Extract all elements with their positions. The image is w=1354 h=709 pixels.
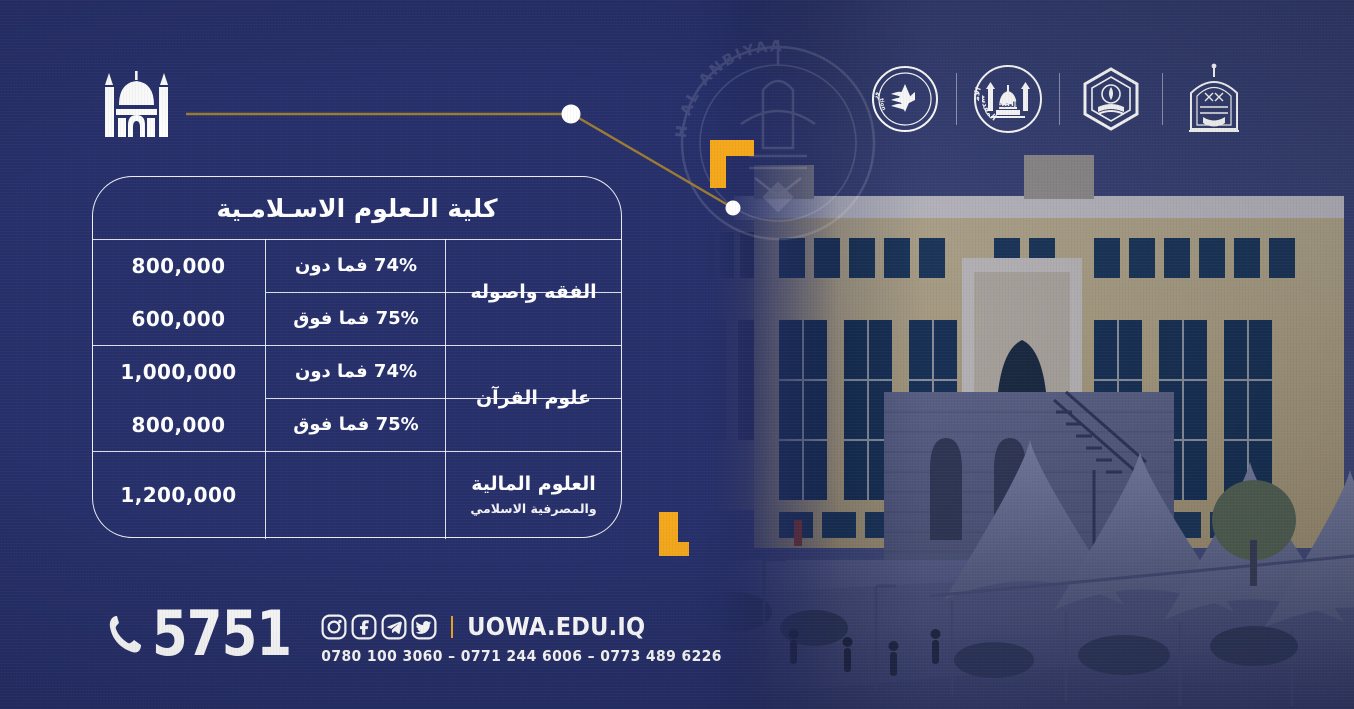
al-ataba-al-abbasiya-logo: الامانة العامة المقدسة العتبة [969, 58, 1047, 140]
svg-text:العتبة: العتبة [999, 101, 1018, 109]
rule-col-1 [445, 239, 446, 539]
instagram-icon[interactable] [321, 614, 347, 640]
phone-numbers: 0780 100 3060 – 0771 244 6006 – 0773 489… [321, 647, 722, 665]
ministry-of-higher-education-logo: وزارة التعليم العالي Ministry of Higher … [866, 58, 944, 140]
table-cell-amount: 800,000 [91, 398, 266, 451]
phone-icon [108, 614, 142, 654]
rule-row3 [266, 398, 621, 399]
accent-bracket-top [710, 140, 754, 188]
telegram-icon[interactable] [381, 614, 407, 640]
table-cell-amount: 1,200,000 [91, 451, 266, 539]
card-title: كلية الـعلوم الاسـلامـية [93, 177, 621, 239]
footer-divider [451, 616, 453, 638]
rule-col-2 [265, 239, 266, 539]
rule-row4 [93, 451, 621, 452]
twitter-icon[interactable] [411, 614, 437, 640]
logo-divider [956, 73, 957, 125]
table-cell-percent: 74% فما دون [266, 239, 446, 292]
partner-logos: الامانة العامة المقدسة العتبة [866, 58, 1253, 140]
table-cell-percent: 74% فما دون [266, 345, 446, 398]
svg-text:UNIVERSITY OF WARITH AL-ANBIYA: UNIVERSITY OF WARITH AL-ANBIYAA [663, 28, 784, 139]
hotline-block[interactable]: 5751 [108, 608, 303, 661]
contact-block: UOWA.EDU.IQ 0780 100 3060 – 0771 244 600… [321, 612, 722, 665]
rule-row2 [93, 345, 621, 346]
table-row-subject: العلوم المالية والمصرفية الاسلامي [446, 451, 621, 539]
rule-row1 [266, 292, 621, 293]
table-cell-amount: 600,000 [91, 292, 266, 345]
website-url[interactable]: UOWA.EDU.IQ [467, 612, 645, 641]
table-cell-amount: 1,000,000 [91, 345, 266, 398]
subject-sublabel: والمصرفية الاسلامي [470, 501, 596, 517]
photo-bottom-fade [694, 619, 1354, 709]
contact-top-row: UOWA.EDU.IQ [321, 612, 722, 641]
table-cell-percent: 75% فما فوق [266, 292, 446, 345]
footer-contact-bar: 5751 [108, 608, 722, 665]
logo-divider [1059, 73, 1060, 125]
rule-under-title [93, 239, 621, 240]
table-cell-percent [266, 451, 446, 539]
accent-bracket-bottom [645, 512, 689, 556]
fees-table-card: كلية الـعلوم الاسـلامـية الفقه واصوله 74… [92, 176, 622, 538]
warith-al-anbiyaa-university-logo [1175, 58, 1253, 140]
university-seal-watermark: UNIVERSITY OF WARITH AL-ANBIYAA [663, 28, 893, 258]
table-cell-amount: 800,000 [91, 239, 266, 292]
facebook-icon[interactable] [351, 614, 377, 640]
poster-root: UNIVERSITY OF WARITH AL-ANBIYAA [0, 0, 1354, 709]
fees-grid: الفقه واصوله 74% فما دون 800,000 75% فما… [93, 239, 621, 537]
social-icons [321, 614, 437, 640]
hexagon-book-pen-logo [1072, 58, 1150, 140]
hotline-number: 5751 [152, 608, 291, 661]
mosque-icon [99, 63, 175, 141]
table-cell-percent: 75% فما فوق [266, 398, 446, 451]
logo-divider [1162, 73, 1163, 125]
subject-label: العلوم المالية [471, 473, 596, 497]
